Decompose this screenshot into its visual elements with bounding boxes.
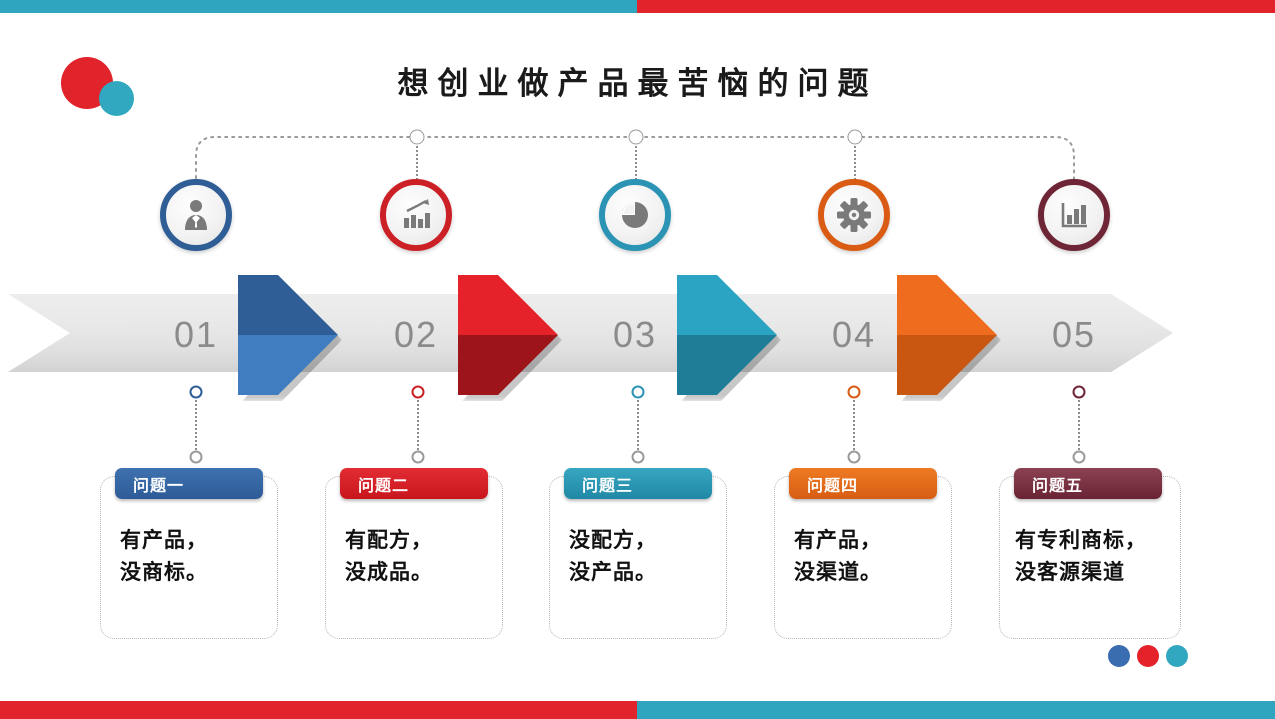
problem-card-line-2: 没客源渠道: [1015, 557, 1181, 589]
rail-node-3: [848, 130, 863, 145]
step-number-4: 04: [832, 314, 876, 356]
connector-dot-top-1: [190, 386, 203, 399]
connector-dot-top-5: [1073, 386, 1086, 399]
step-number-1: 01: [174, 314, 218, 356]
problem-card-line-2: 没商标。: [120, 557, 278, 589]
rail-drop-1: [416, 146, 418, 180]
top-accent-bar: [0, 0, 1275, 13]
bar-chart-icon: [1055, 196, 1093, 234]
connector-dot-bottom-4: [848, 451, 861, 464]
step-icon-2[interactable]: [380, 179, 452, 251]
problem-card-body-4: 有产品， 没渠道。: [774, 525, 952, 589]
connector-line-1: [195, 400, 197, 450]
problem-card-header-4: 问题四: [789, 468, 937, 499]
chevron-top-half: [238, 275, 338, 335]
corner-dot-red: [1137, 645, 1159, 667]
problem-card-line-2: 没渠道。: [794, 557, 952, 589]
step-icon-5[interactable]: [1038, 179, 1110, 251]
bottom-bar-right-segment: [637, 701, 1275, 719]
connector-line-2: [417, 400, 419, 450]
chevron-top-half: [897, 275, 997, 335]
bar-chart-growth-icon: [397, 196, 435, 234]
step-number-3: 03: [613, 314, 657, 356]
chevron-2: [458, 275, 558, 396]
top-bar-right-segment: [637, 0, 1275, 13]
corner-dot-teal: [1166, 645, 1188, 667]
corner-dots: [1108, 645, 1198, 669]
bottom-bar-left-segment: [0, 701, 637, 719]
problem-card-header-1: 问题一: [115, 468, 263, 499]
rail-drop-2: [635, 146, 637, 180]
page-title: 想创业做产品最苦恼的问题: [0, 58, 1275, 103]
connector-dot-bottom-2: [412, 451, 425, 464]
problem-card-line-1: 有配方，: [345, 525, 503, 557]
connector-line-4: [853, 400, 855, 450]
corner-dot-blue: [1108, 645, 1130, 667]
problem-card-header-5: 问题五: [1014, 468, 1162, 499]
problem-card-line-1: 有产品，: [794, 525, 952, 557]
problem-card-body-5: 有专利商标， 没客源渠道: [999, 525, 1181, 589]
connector-dot-top-4: [848, 386, 861, 399]
gear-icon: [835, 196, 873, 234]
problem-card-line-1: 有专利商标，: [1015, 525, 1181, 557]
problem-card-line-1: 没配方，: [569, 525, 727, 557]
rail-node-2: [629, 130, 644, 145]
connector-dot-bottom-1: [190, 451, 203, 464]
problem-card-line-2: 没产品。: [569, 557, 727, 589]
rail-node-1: [410, 130, 425, 145]
connector-dot-bottom-5: [1073, 451, 1086, 464]
businessman-icon: [177, 196, 215, 234]
chevron-1: [238, 275, 338, 396]
step-number-5: 05: [1052, 314, 1096, 356]
chevron-top-half: [458, 275, 558, 335]
chevron-top-half: [677, 275, 777, 335]
problem-card-body-2: 有配方， 没成品。: [325, 525, 503, 589]
top-bar-left-segment: [0, 0, 637, 13]
connector-dot-top-2: [412, 386, 425, 399]
rail-drop-3: [854, 146, 856, 180]
step-icon-1[interactable]: [160, 179, 232, 251]
step-icon-3[interactable]: [599, 179, 671, 251]
chevron-4: [897, 275, 997, 396]
step-icon-4[interactable]: [818, 179, 890, 251]
pie-chart-icon: [616, 196, 654, 234]
problem-card-body-3: 没配方， 没产品。: [549, 525, 727, 589]
step-number-2: 02: [394, 314, 438, 356]
chevron-3: [677, 275, 777, 396]
problem-card-header-2: 问题二: [340, 468, 488, 499]
bottom-accent-bar: [0, 701, 1275, 719]
problem-card-body-1: 有产品， 没商标。: [100, 525, 278, 589]
connector-dot-bottom-3: [632, 451, 645, 464]
problem-card-header-3: 问题三: [564, 468, 712, 499]
connector-line-3: [637, 400, 639, 450]
problem-card-line-2: 没成品。: [345, 557, 503, 589]
connector-dot-top-3: [632, 386, 645, 399]
connector-line-5: [1078, 400, 1080, 450]
problem-card-line-1: 有产品，: [120, 525, 278, 557]
slide-canvas: 想创业做产品最苦恼的问题: [0, 0, 1275, 719]
